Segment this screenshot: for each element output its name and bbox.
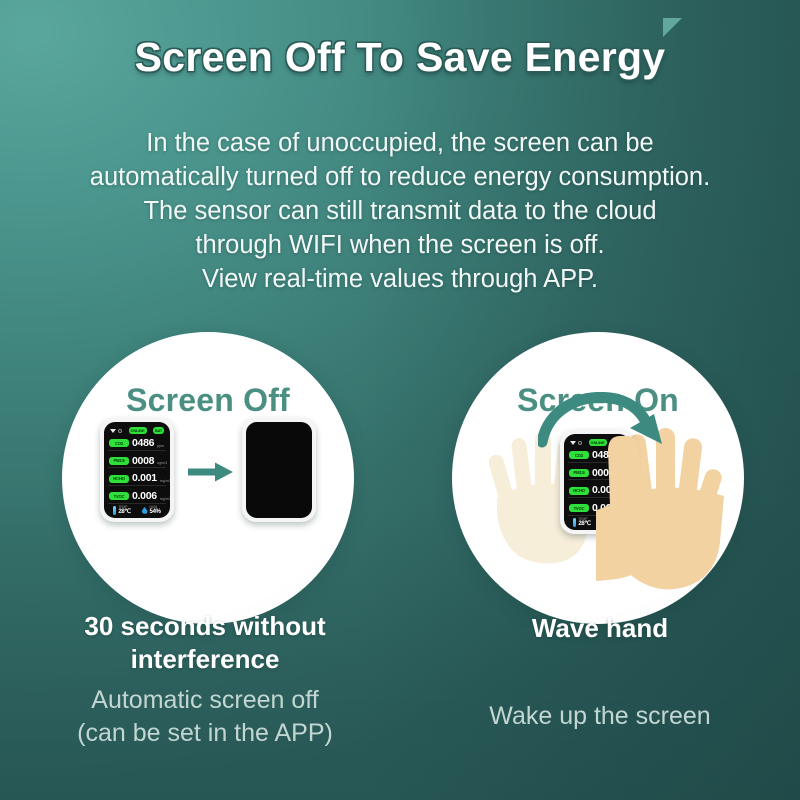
intro-line: In the case of unoccupied, the screen ca…	[0, 126, 800, 160]
device-screen-off	[242, 418, 316, 522]
humidity-icon	[142, 507, 148, 514]
intro-paragraph: In the case of unoccupied, the screen ca…	[0, 126, 800, 296]
table-row: PM2.5 0008 ug/m3	[108, 455, 166, 469]
thermometer-icon	[573, 518, 576, 527]
intro-line: automatically turned off to reduce energ…	[0, 160, 800, 194]
humidity-readout: HUM 54%	[142, 506, 161, 515]
table-row: HCHO 0.001 mg/m3	[108, 472, 166, 486]
reading-label: TVOC	[109, 492, 129, 500]
reading-unit: ppm	[157, 444, 164, 449]
reading-unit: ug/m3	[157, 461, 167, 466]
right-caption-sub-line: Wake up the screen	[440, 700, 760, 733]
page-title: Screen Off To Save Energy	[0, 34, 800, 81]
reading-label: HCHO	[569, 487, 589, 495]
temperature-readout: TEMP 28℃	[573, 518, 591, 527]
reading-label: HCHO	[109, 475, 129, 483]
device-display-blank	[246, 422, 312, 518]
cloud-icon	[118, 429, 122, 433]
right-caption-sub: Wake up the screen	[440, 700, 760, 733]
wifi-icon	[110, 429, 116, 433]
reading-value: 0486	[132, 438, 154, 449]
left-caption-sub: Automatic screen off (can be set in the …	[30, 684, 380, 750]
reading-label: CO2	[109, 439, 129, 447]
intro-line: The sensor can still transmit data to th…	[0, 194, 800, 228]
status-badge-online: ONLINE	[129, 427, 147, 435]
intro-line: through WIFI when the screen is off.	[0, 228, 800, 262]
table-row: CO2 0486 ppm	[108, 437, 166, 451]
status-badge-battery: BAT	[153, 427, 164, 435]
thermometer-icon	[113, 506, 116, 515]
reading-label: PM2.5	[109, 457, 129, 465]
device-reading-rows: CO2 0486 ppm PM2.5 0008 ug/m3 HCHO 0.001…	[108, 437, 166, 504]
device-display: ONLINE BAT CO2 0486 ppm PM2.5 0008 ug/m3…	[104, 422, 170, 518]
temperature-value: 28℃	[578, 521, 591, 527]
device-screen-on-left: ONLINE BAT CO2 0486 ppm PM2.5 0008 ug/m3…	[100, 418, 174, 522]
reading-value: 0.001	[132, 473, 157, 484]
intro-line: View real-time values through APP.	[0, 262, 800, 296]
screen-off-title: Screen Off	[62, 382, 354, 419]
device-statusbar: ONLINE BAT	[108, 426, 166, 435]
table-row: TVOC 0.006 mg/m3	[108, 490, 166, 504]
left-caption-sub-line: (can be set in the APP)	[30, 717, 380, 750]
reading-value: 0008	[132, 456, 154, 467]
reading-unit: mg/m3	[160, 497, 170, 502]
pointing-finger-icon	[596, 432, 676, 612]
left-caption-bold: 30 seconds without interference	[40, 610, 370, 676]
device-environment-row: TEMP 28℃ HUM 54%	[108, 504, 166, 515]
right-caption-bold: Wave hand	[450, 612, 750, 645]
reading-label: PM2.5	[569, 469, 589, 477]
reading-value: 0.006	[132, 491, 157, 502]
humidity-value: 54%	[150, 509, 161, 515]
left-caption-sub-line: Automatic screen off	[30, 684, 380, 717]
temperature-value: 28℃	[118, 509, 131, 515]
reading-unit: mg/m3	[160, 479, 170, 484]
reading-label: TVOC	[569, 504, 589, 512]
temperature-readout: TEMP 28℃	[113, 506, 131, 515]
arrow-right-icon	[188, 462, 234, 482]
